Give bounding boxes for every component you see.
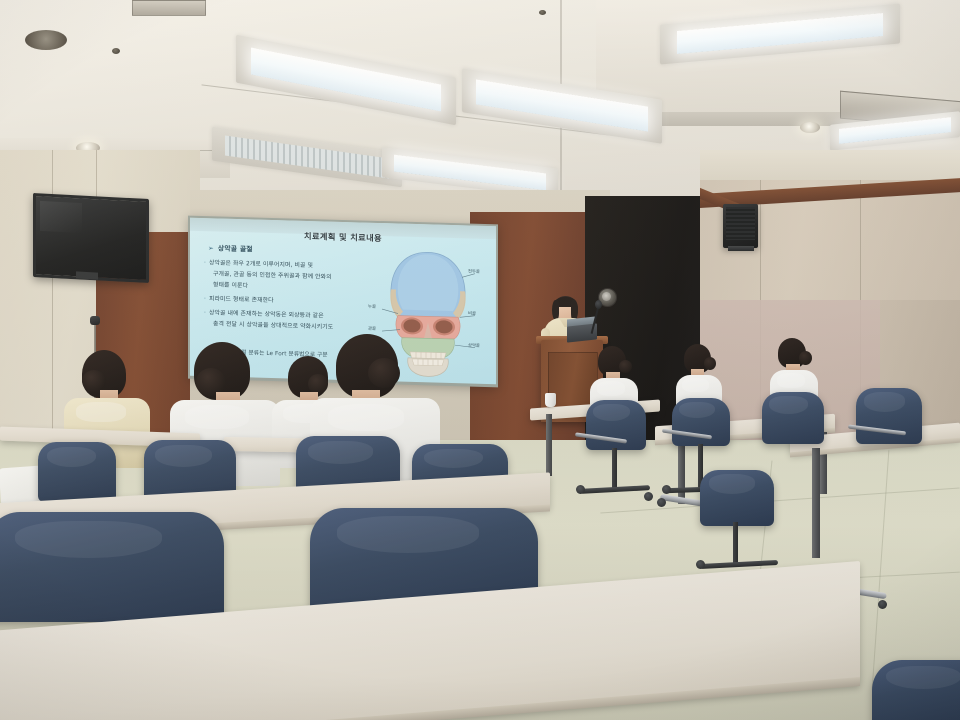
bullet-line: 피라미드 형태로 존재한다: [209, 296, 274, 304]
skull-label-maxilla: 상악골: [468, 342, 480, 348]
chair: [762, 392, 824, 444]
microphone-icon: [90, 316, 100, 325]
slide-subheading: ➢상악골 골절: [208, 242, 372, 257]
table-leg: [546, 414, 552, 476]
bullet-dot-icon: ·: [204, 260, 206, 266]
ceiling-downlight: [800, 122, 820, 133]
chair: [872, 660, 960, 720]
chair: [586, 400, 646, 450]
chair: [856, 388, 922, 444]
sprinkler-head: [112, 48, 120, 54]
bullet-dot-icon: ·: [204, 310, 206, 316]
recessed-ceiling-light: [25, 30, 67, 50]
chair: [0, 512, 224, 622]
table-leg: [812, 448, 820, 558]
slide-body: ➢상악골 골절 ·상악골은 좌우 2개로 이루어지며, 비골 및 구개골, 관골…: [200, 242, 372, 337]
tv-screen-glare: [40, 201, 82, 233]
caster: [657, 498, 666, 507]
caster: [662, 485, 671, 494]
sprinkler-head: [539, 10, 546, 15]
skull-label-frontal-bone: 전두골: [468, 268, 480, 274]
skull-label-zygomatic-bone: 관골: [368, 326, 376, 332]
arrow-bullet-icon: ➢: [208, 244, 214, 252]
slide-bullet: ·상악골 내에 존재하는 상악동은 외상등과 같은 충격 전달 시 상악골을 상…: [204, 308, 372, 335]
skull-label-nasal-bone: 비골: [468, 310, 476, 316]
table-leg: [678, 436, 685, 504]
presenter-hair-side: [552, 300, 559, 320]
clock-face: [602, 292, 611, 301]
bullet-line: 상악골 내에 존재하는 상악동은 외상등과 같은: [209, 310, 324, 319]
slide-subheading-text: 상악골 골절: [218, 245, 253, 254]
slide-bullet: ·피라미드 형태로 존재한다: [204, 294, 372, 310]
slide-bullet: ·상악골은 좌우 2개로 이루어지며, 비골 및 구개골, 관골 등의 인접한 …: [204, 258, 372, 295]
caster: [878, 600, 887, 609]
tv-mount: [76, 271, 98, 279]
lecture-room-photo: 치료계획 및 치료내용 ➢상악골 골절 ·상악골은 좌우 2개로 이루어지며, …: [0, 0, 960, 720]
skull-label-lacrimal-bone: 누골: [368, 304, 376, 310]
bullet-dot-icon: ·: [204, 296, 206, 302]
paper-cup: [545, 393, 556, 407]
chair: [700, 470, 774, 526]
caster: [696, 560, 705, 569]
bullet-line: 상악골은 좌우 2개로 이루어지며, 비골 및: [209, 260, 313, 269]
caster: [576, 485, 585, 494]
microphone-icon: [595, 300, 602, 309]
chair: [38, 442, 116, 502]
speaker-bracket: [728, 246, 754, 251]
chair: [672, 398, 730, 446]
chair-post: [733, 522, 738, 566]
chair-post: [612, 448, 617, 490]
speaker-grille: [726, 207, 755, 240]
caster: [644, 492, 653, 501]
bullet-line: 충격 전달 시 상악골을 상대적으로 약화시키기도: [213, 319, 372, 334]
